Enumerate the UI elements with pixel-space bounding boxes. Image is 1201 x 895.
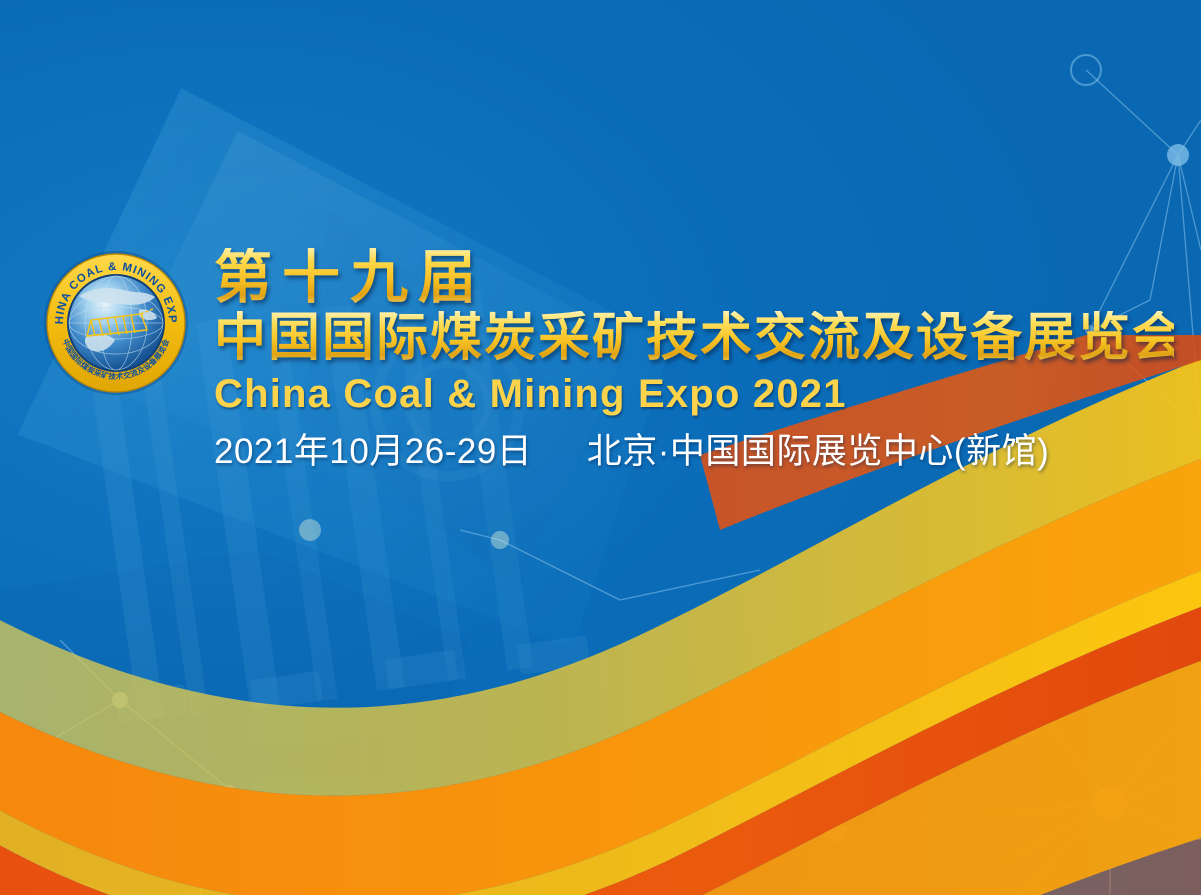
expo-title-english: China Coal & Mining Expo 2021	[214, 372, 1174, 416]
expo-poster: CHINA COAL & MINING EXPO 中国国际煤炭采矿技术交流及设备…	[0, 0, 1201, 895]
expo-title-chinese: 中国国际煤炭采矿技术交流及设备展览会	[214, 311, 1174, 366]
edition-title: 第十九届	[214, 248, 1174, 307]
event-date: 2021年10月26-29日	[214, 432, 532, 471]
headline-text-block: 第十九届 中国国际煤炭采矿技术交流及设备展览会 China Coal & Min…	[214, 248, 1174, 472]
expo-logo: CHINA COAL & MINING EXPO 中国国际煤炭采矿技术交流及设备…	[43, 250, 189, 396]
event-info-line: 2021年10月26-29日 北京·中国国际展览中心(新馆)	[214, 432, 1174, 472]
event-venue: 北京·中国国际展览中心(新馆)	[587, 432, 1049, 471]
